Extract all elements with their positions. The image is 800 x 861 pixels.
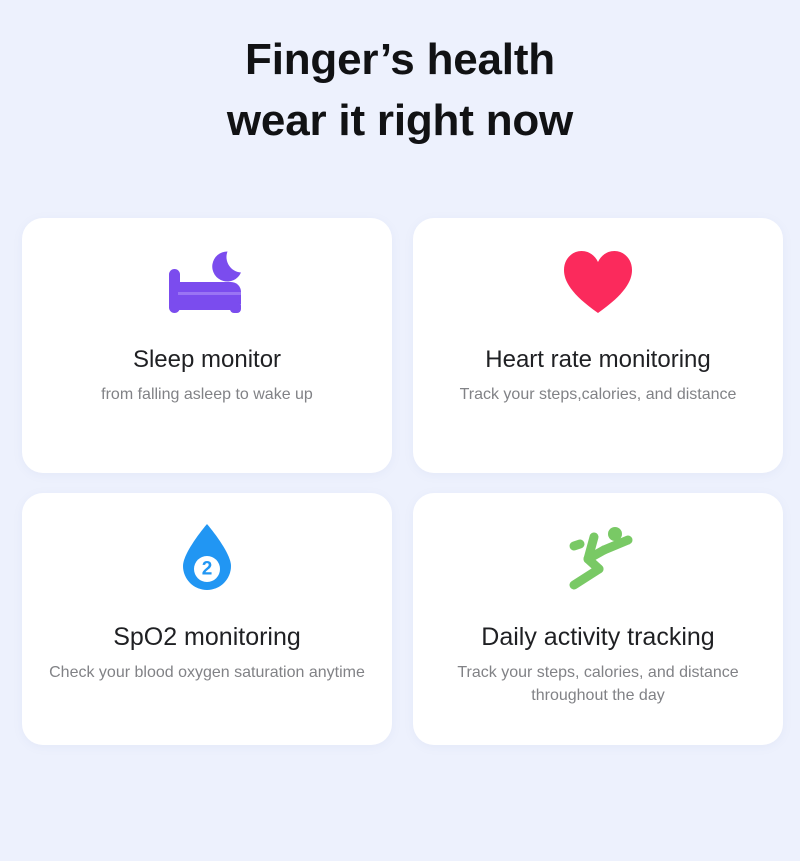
feature-card-heart-rate[interactable]: Heart rate monitoring Track your steps,c…: [413, 218, 783, 473]
running-person-icon: [558, 525, 638, 591]
feature-description: Track your steps,calories, and distance: [446, 383, 751, 406]
feature-title: Sleep monitor: [123, 346, 291, 374]
feature-description: Track your steps, calories, and distance…: [413, 661, 783, 707]
promo-page: Finger’s health wear it right now: [0, 0, 800, 861]
page-title-line-2: wear it right now: [0, 91, 800, 152]
drop-badge-number: 2: [202, 559, 213, 580]
feature-card-sleep-monitor[interactable]: Sleep monitor from falling asleep to wak…: [22, 218, 392, 473]
feature-description: Check your blood oxygen saturation anyti…: [35, 661, 379, 684]
feature-title: Heart rate monitoring: [475, 346, 720, 374]
heart-icon-wrap: [413, 218, 783, 346]
bed-moon-icon-wrap: [22, 218, 392, 346]
heart-icon: [562, 249, 634, 315]
feature-title: SpO2 monitoring: [103, 623, 311, 652]
bed-moon-icon: [165, 247, 249, 317]
page-title: Finger’s health wear it right now: [0, 0, 800, 151]
water-drop-o2-icon-wrap: 2: [22, 493, 392, 623]
feature-card-spo2[interactable]: 2 SpO2 monitoring Check your blood oxyge…: [22, 493, 392, 745]
page-title-line-1: Finger’s health: [0, 30, 800, 91]
feature-card-grid: Sleep monitor from falling asleep to wak…: [22, 218, 782, 745]
feature-card-daily-activity[interactable]: Daily activity tracking Track your steps…: [413, 493, 783, 745]
feature-title: Daily activity tracking: [471, 623, 724, 652]
water-drop-o2-icon: 2: [179, 522, 235, 594]
feature-description: from falling asleep to wake up: [87, 383, 327, 406]
running-person-icon-wrap: [413, 493, 783, 623]
